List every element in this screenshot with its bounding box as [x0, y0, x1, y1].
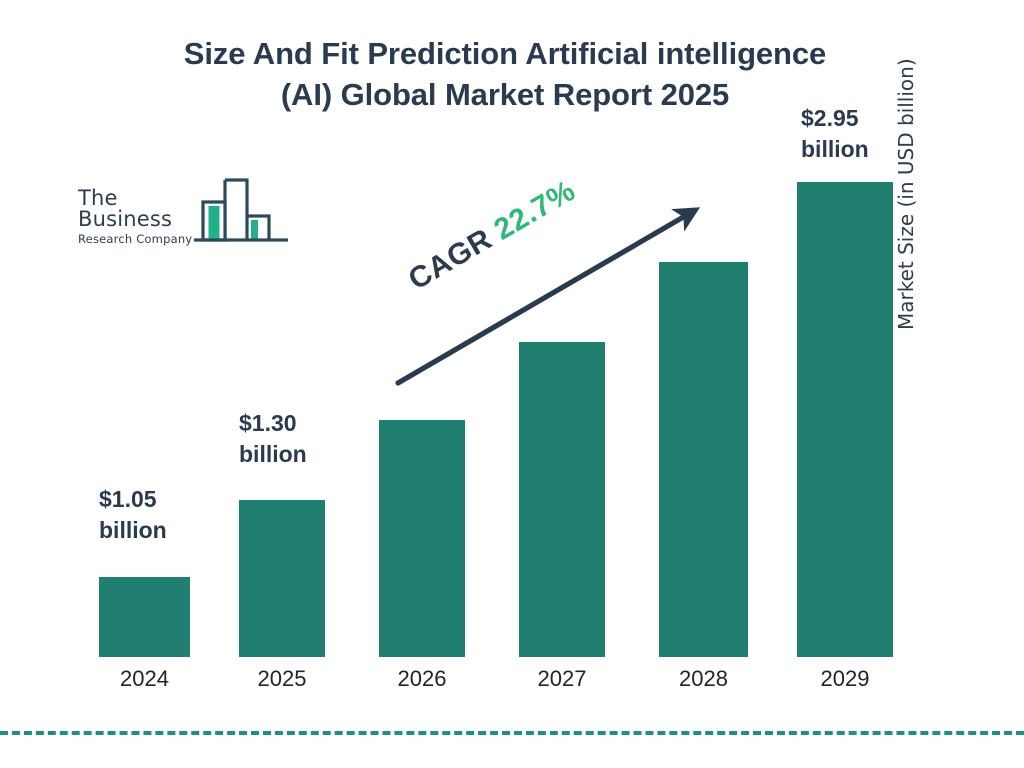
bar-value-unit-2025: billion — [239, 439, 307, 470]
x-axis-tick-label-2028: 2028 — [679, 666, 728, 691]
bar-value-unit-2024: billion — [99, 515, 167, 546]
bar-2025[interactable] — [239, 500, 325, 657]
x-axis-tick-label-2026: 2026 — [398, 666, 447, 691]
y-axis-label-text: Market Size (in USD billion) — [894, 58, 918, 330]
bar-2024[interactable] — [99, 577, 190, 657]
bar-value-amount-2025: $1.30 — [239, 408, 307, 439]
x-axis-tick-2027: 2027 — [519, 666, 605, 692]
bar-value-unit-2029: billion — [801, 134, 869, 165]
bar-value-label-2024: $1.05 billion — [99, 484, 167, 546]
x-axis-tick-2028: 2028 — [659, 666, 748, 692]
bar-chart-plot-area: $1.05 billion 2024 $1.30 billion 2025 20… — [0, 0, 1024, 768]
x-axis-tick-label-2025: 2025 — [258, 666, 307, 691]
bar-2026[interactable] — [379, 420, 465, 657]
footer-divider — [0, 731, 1024, 735]
x-axis-tick-2025: 2025 — [239, 666, 325, 692]
bar-value-label-2025: $1.30 billion — [239, 408, 307, 470]
bar-2027[interactable] — [519, 342, 605, 657]
bar-2029[interactable] — [797, 182, 893, 657]
x-axis-tick-2026: 2026 — [379, 666, 465, 692]
y-axis-label: Market Size (in USD billion) — [894, 0, 918, 330]
x-axis-tick-label-2027: 2027 — [538, 666, 587, 691]
x-axis-tick-label-2024: 2024 — [120, 666, 169, 691]
bar-2028[interactable] — [659, 262, 748, 657]
bar-value-amount-2024: $1.05 — [99, 484, 167, 515]
bar-value-label-2029: $2.95 billion — [801, 103, 869, 165]
bar-value-amount-2029: $2.95 — [801, 103, 869, 134]
x-axis-tick-label-2029: 2029 — [821, 666, 870, 691]
x-axis-tick-2024: 2024 — [99, 666, 190, 692]
chart-canvas: Size And Fit Prediction Artificial intel… — [0, 0, 1024, 768]
x-axis-tick-2029: 2029 — [797, 666, 893, 692]
